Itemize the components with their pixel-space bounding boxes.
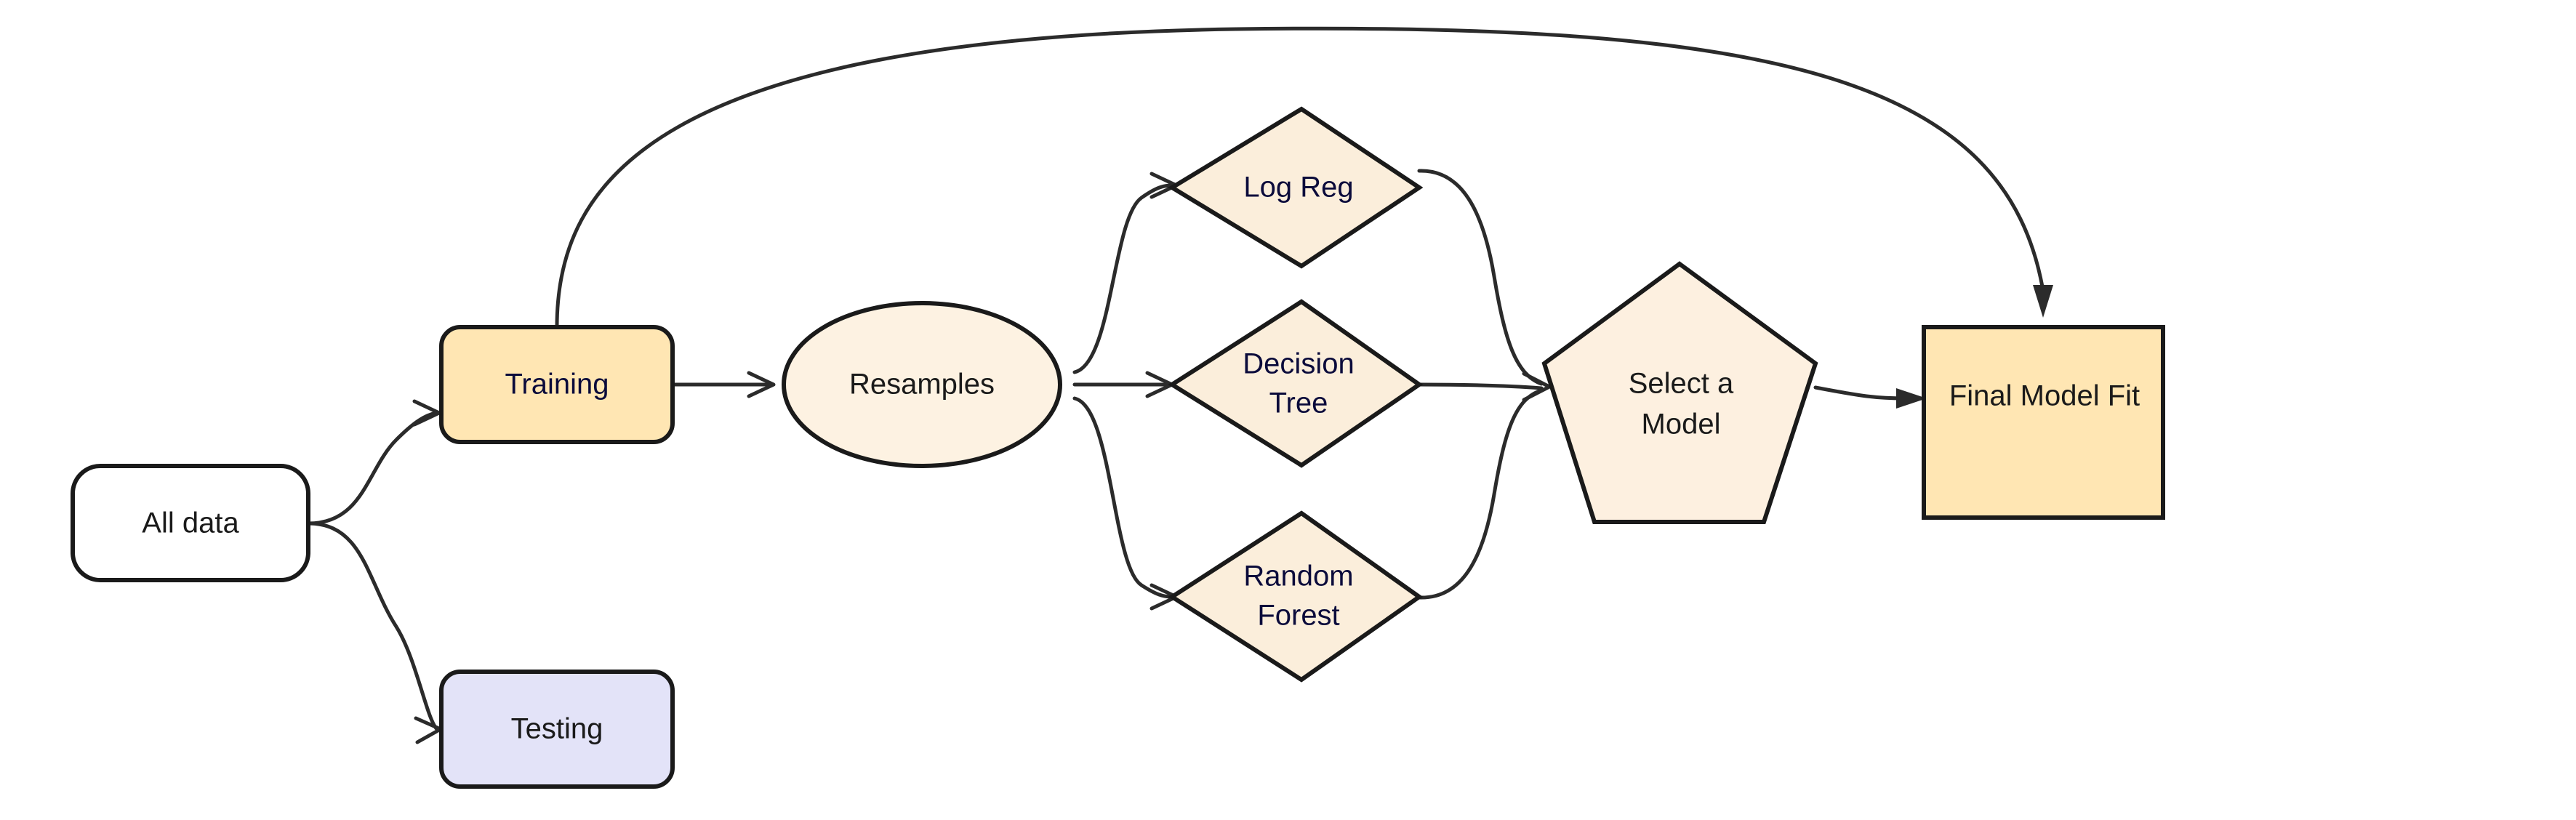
edge-random-forest-to-select-model xyxy=(1419,390,1541,598)
edge-log-reg-to-select-model xyxy=(1419,171,1541,384)
testing-label: Testing xyxy=(511,713,603,745)
edge-resamples-to-random-forest xyxy=(1075,398,1176,608)
decision-tree-label-line2: Tree xyxy=(1269,387,1328,419)
edge-all-data-to-testing xyxy=(308,523,441,742)
node-layer: All data Training Testing Resamples Log … xyxy=(73,109,2163,787)
random-forest-label-line2: Forest xyxy=(1257,600,1339,632)
all-data-label: All data xyxy=(142,507,239,539)
random-forest-diamond[interactable] xyxy=(1172,513,1419,680)
random-forest-label-line1: Random xyxy=(1243,560,1353,592)
node-training[interactable]: Training xyxy=(441,327,673,442)
node-log-reg[interactable]: Log Reg xyxy=(1172,109,1419,266)
edge-training-to-resamples xyxy=(673,373,774,396)
decision-tree-diamond[interactable] xyxy=(1172,302,1419,465)
node-select-model[interactable]: Select a Model xyxy=(1544,264,1815,522)
node-testing[interactable]: Testing xyxy=(441,672,673,787)
select-model-label-line2: Model xyxy=(1642,409,1721,441)
log-reg-label: Log Reg xyxy=(1243,172,1353,204)
edge-resamples-to-decision-tree xyxy=(1075,373,1172,396)
edge-decision-tree-to-select-model xyxy=(1419,385,1541,388)
model-workflow-diagram: All data Training Testing Resamples Log … xyxy=(0,0,2576,820)
node-resamples[interactable]: Resamples xyxy=(784,303,1060,466)
flowchart-canvas: All data Training Testing Resamples Log … xyxy=(0,0,2576,820)
node-random-forest[interactable]: Random Forest xyxy=(1172,513,1419,680)
edge-resamples-to-log-reg xyxy=(1075,174,1176,372)
edge-all-data-to-training xyxy=(308,401,439,523)
training-label: Training xyxy=(505,369,609,401)
decision-tree-label-line1: Decision xyxy=(1243,348,1354,380)
final-fit-label: Final Model Fit xyxy=(1949,380,2140,412)
resamples-label: Resamples xyxy=(849,369,995,401)
edge-select-model-to-final-fit xyxy=(1815,387,1927,409)
select-model-label-line1: Select a xyxy=(1629,368,1734,400)
node-decision-tree[interactable]: Decision Tree xyxy=(1172,302,1419,465)
node-final-fit[interactable]: Final Model Fit xyxy=(1924,327,2163,518)
node-all-data[interactable]: All data xyxy=(73,466,308,580)
final-fit-box[interactable] xyxy=(1924,327,2163,518)
